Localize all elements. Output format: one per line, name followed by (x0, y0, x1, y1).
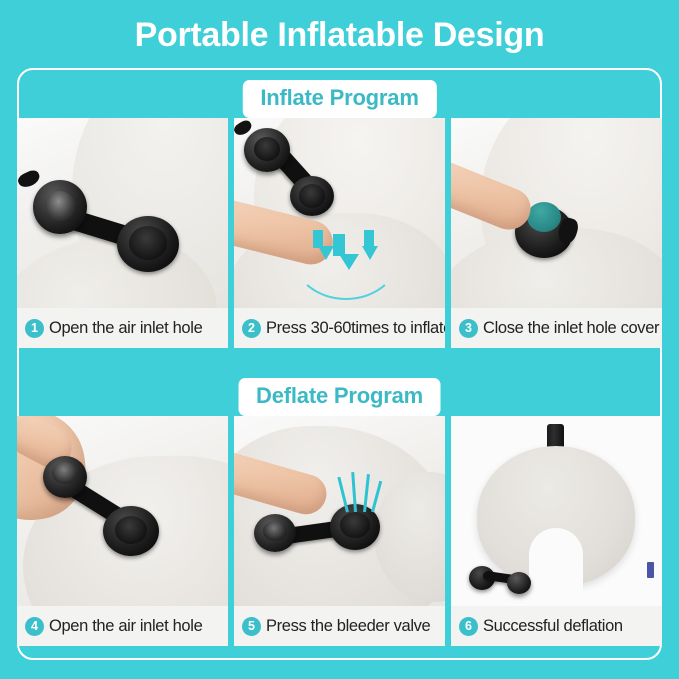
step-number-badge-3: 3 (459, 319, 478, 338)
bleeder-valve-hole (340, 512, 370, 538)
step-3-caption-bar: 3 Close the inlet hole cover (451, 308, 662, 348)
step-4-photo (17, 416, 228, 606)
brand-label (647, 562, 654, 578)
valve-cap-mouth (52, 462, 78, 484)
infographic-page: Portable Inflatable Design Inflate Progr… (0, 0, 679, 679)
step-2-photo (234, 118, 445, 308)
step-3-caption-text: Close the inlet hole cover (483, 318, 659, 338)
step-number-badge-5: 5 (242, 617, 261, 636)
deflate-steps-row: 4 Open the air inlet hole (17, 416, 662, 646)
section-badge-deflate-label: Deflate Program (256, 383, 423, 409)
valve-cap-mouth (254, 137, 280, 161)
step-6-caption-bar: 6 Successful deflation (451, 606, 662, 646)
section-badge-inflate-label: Inflate Program (260, 85, 418, 111)
valve-cap (507, 572, 531, 594)
step-4-caption-text: Open the air inlet hole (49, 616, 202, 636)
teal-cap-top (527, 202, 561, 232)
step-4-caption-bar: 4 Open the air inlet hole (17, 606, 228, 646)
pillow-neck-opening (529, 528, 583, 600)
step-5-caption-bar: 5 Press the bleeder valve (234, 606, 445, 646)
valve-cap-mouth (45, 191, 75, 221)
step-1-caption-bar: 1 Open the air inlet hole (17, 308, 228, 348)
step-number-badge-2: 2 (242, 319, 261, 338)
step-card-2[interactable]: 2 Press 30-60times to inflate (234, 118, 445, 348)
step-card-5[interactable]: 5 Press the bleeder valve (234, 416, 445, 646)
step-5-caption-text: Press the bleeder valve (266, 616, 430, 636)
pressure-arc (292, 210, 400, 300)
step-card-1[interactable]: 1 Open the air inlet hole (17, 118, 228, 348)
step-number-badge-4: 4 (25, 617, 44, 636)
valve-hole (129, 226, 167, 260)
inflate-steps-row: 1 Open the air inlet hole (17, 118, 662, 348)
step-number-badge-1: 1 (25, 319, 44, 338)
valve-cap-mouth (263, 521, 287, 541)
step-5-photo (234, 416, 445, 606)
section-badge-inflate: Inflate Program (242, 80, 436, 118)
step-number-badge-6: 6 (459, 617, 478, 636)
valve-hole (115, 516, 147, 544)
step-2-caption-bar: 2 Press 30-60times to inflate (234, 308, 445, 348)
step-2-caption-text: Press 30-60times to inflate (266, 318, 445, 338)
step-3-photo (451, 118, 662, 308)
step-6-photo (451, 416, 662, 606)
page-title: Portable Inflatable Design (0, 14, 679, 56)
valve-hole (299, 184, 325, 208)
step-6-caption-text: Successful deflation (483, 616, 623, 636)
step-card-3[interactable]: 3 Close the inlet hole cover (451, 118, 662, 348)
section-badge-deflate: Deflate Program (238, 378, 441, 416)
step-card-6[interactable]: 6 Successful deflation (451, 416, 662, 646)
step-1-caption-text: Open the air inlet hole (49, 318, 202, 338)
step-1-photo (17, 118, 228, 308)
step-card-4[interactable]: 4 Open the air inlet hole (17, 416, 228, 646)
